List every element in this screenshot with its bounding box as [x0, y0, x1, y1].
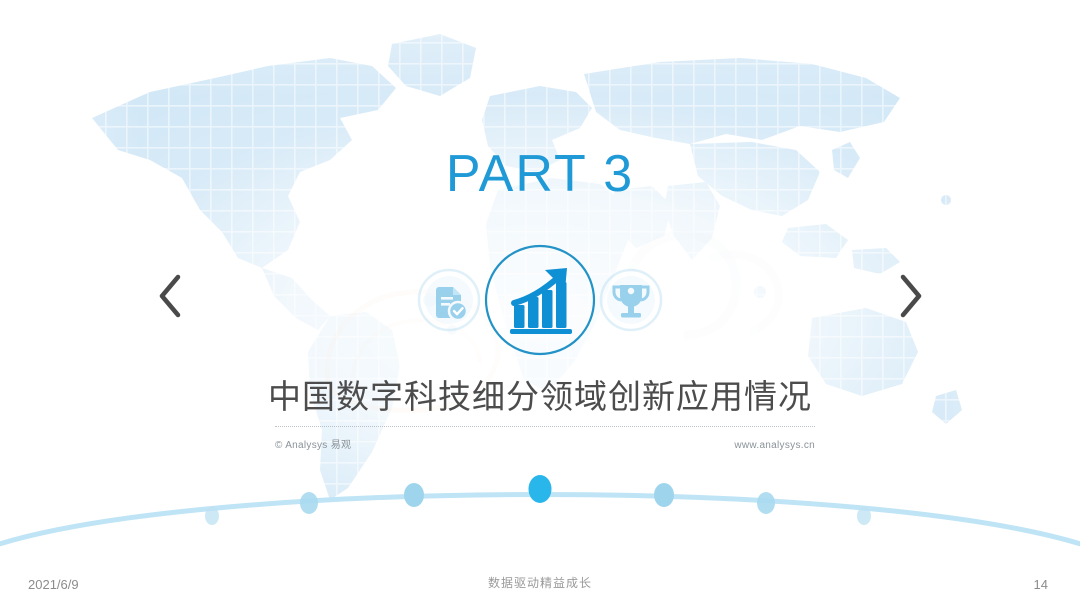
bar-chart-growth-icon-wrap [480, 240, 600, 360]
trophy-icon-wrap [592, 261, 670, 339]
progress-dot [300, 492, 318, 514]
part-label: PART 3 [0, 148, 1080, 200]
slide-canvas: PART 3 [0, 0, 1080, 608]
icon-cluster [0, 240, 1080, 360]
progress-dots [205, 475, 871, 525]
website-url[interactable]: www.analysys.cn [734, 440, 815, 451]
progress-dot [654, 483, 674, 507]
bar-chart-growth-icon [481, 241, 599, 359]
progress-dot-active [529, 475, 552, 503]
progress-dot [857, 507, 871, 525]
copyright-text: © Analysys 易观 [275, 436, 351, 451]
document-check-icon [412, 263, 486, 337]
progress-arc [0, 455, 1080, 560]
progress-dot [404, 483, 424, 507]
document-check-icon-wrap [410, 261, 488, 339]
progress-dot [205, 507, 219, 525]
page-number: 14 [1034, 577, 1048, 592]
footer-tagline: 数据驱动精益成长 [0, 574, 1080, 591]
title-divider [275, 426, 815, 427]
trophy-icon [594, 263, 668, 337]
progress-dot [757, 492, 775, 514]
credit-row: © Analysys 易观 www.analysys.cn [275, 436, 815, 451]
page-title: 中国数字科技细分领域创新应用情况 [0, 370, 1080, 418]
